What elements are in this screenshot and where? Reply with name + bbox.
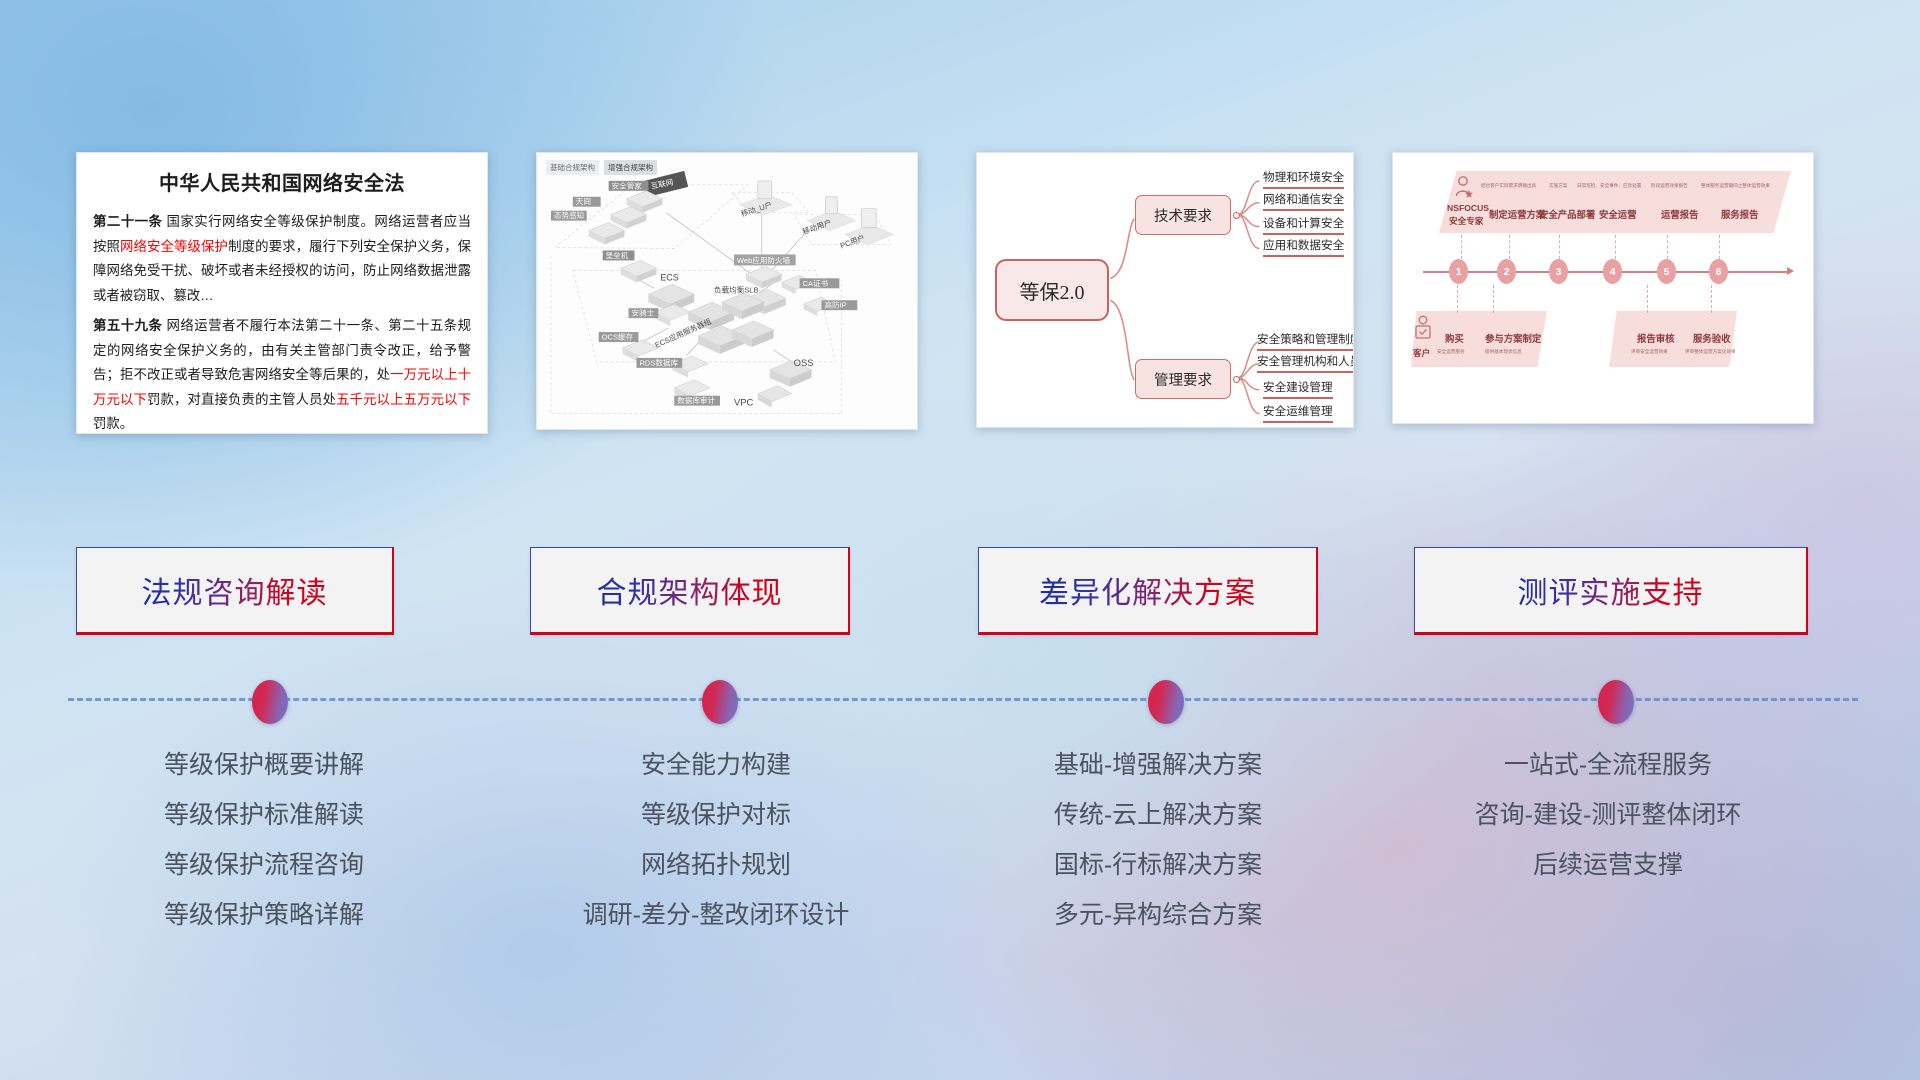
timeline-connector-1 [1461,235,1462,259]
timeline-top-sub-5: 整体服务运营期间之整体运营效果 [1701,183,1770,189]
label-rds-database: RDS数据库 [639,357,678,367]
timeline-bottom-sub-2: 提供基本现状信息 [1485,349,1522,355]
mindmap-leaf-policy: 安全策略和管理制度 [1257,331,1354,351]
mindmap: 等保2.0 技术要求 管理要求 物理和环境安全 网络和通信安全 设备和计算安全 … [977,153,1353,427]
label-database-audit: 数据库审计 [677,395,715,405]
label-bastion-host: 堡垒机 [606,250,629,260]
law-body: 中华人民共和国网络安全法 第二十一条 国家实行网络安全等级保护制度。网络运营者应… [77,153,487,434]
mindmap-leaf-org: 安全管理机构和人员 [1257,353,1354,373]
timeline-expert-label-1: NSFOCUS [1447,203,1489,213]
list-item: 安全能力构建 [506,740,926,790]
list-item: 基础-增强解决方案 [948,740,1368,790]
timeline-connector-b4 [1711,285,1712,313]
heading-row: 法规咨询解读 合规架构体现 差异化解决方案 测评实施支持 [0,547,1920,639]
label-slb: 负载均衡SLB [714,284,758,294]
timeline-step-number-1: 1 [1449,259,1468,284]
timeline-top-title-1: 制定运营方案 [1489,207,1545,221]
label-anti-ddos-ip: 高防IP [824,300,846,310]
law-paragraph-21: 第二十一条 国家实行网络安全等级保护制度。网络运营者应当按照网络安全等级保护制度… [93,210,471,308]
list-item: 网络拓扑规划 [506,840,926,890]
card-cybersecurity-law[interactable]: 中华人民共和国网络安全法 第二十一条 国家实行网络安全等级保护制度。网络运营者应… [76,152,488,434]
list-item: 咨询-建设-测评整体闭环 [1398,790,1818,840]
timeline-connector-b2 [1493,285,1494,313]
timeline-connector-b1 [1457,285,1458,313]
card-service-timeline[interactable]: NSFOCUS 安全专家 客户 结合客户实际需求明确出具 制定运营方案 实施方案… [1392,152,1814,424]
label-ocs-cache: OCS缓存 [602,332,634,342]
detail-column-1: 等级保护概要讲解 等级保护标准解读 等级保护流程咨询 等级保护策略详解 [54,740,474,940]
timeline-connector-4 [1615,235,1616,259]
timeline-bottom-title-1: 购买 [1445,331,1464,345]
timeline-connector-5 [1667,235,1668,259]
timeline-step-number-4: 4 [1603,259,1622,284]
timeline-top-sub-4: 阶段运营效果报告 [1651,183,1688,189]
mindmap-leaf-physical: 物理和环境安全 [1263,169,1344,189]
timeline-customer-label: 客户 [1413,347,1430,359]
mindmap-branch-management: 管理要求 [1135,359,1231,399]
customer-icon [1413,315,1433,343]
architecture-diagram: 基础合规架构 增强合规架构 [537,153,917,429]
heading-label-1: 法规咨询解读 [142,568,328,612]
timeline-top-title-4: 运营报告 [1661,207,1699,221]
list-item: 后续运营支撑 [1398,840,1818,890]
law-paragraph-59: 第五十九条 网络运营者不履行本法第二十一条、第二十五条规定的网络安全保护义务的，… [93,314,471,434]
label-waf: Web应用防火墙 [737,255,791,265]
list-item: 国标-行标解决方案 [948,840,1368,890]
label-anti-rider: 安骑士 [631,308,654,318]
law-p2-text-c: 罚款。 [93,416,133,431]
timeline-bottom-title-2: 参与方案制定 [1485,331,1541,345]
mindmap-leaf-device: 设备和计算安全 [1263,215,1344,235]
timeline-marker-1[interactable] [252,680,288,724]
service-timeline: NSFOCUS 安全专家 客户 结合客户实际需求明确出具 制定运营方案 实施方案… [1393,153,1813,423]
timeline-connector-6 [1719,235,1720,259]
detail-column-2: 安全能力构建 等级保护对标 网络拓扑规划 调研-差分-整改闭环设计 [506,740,926,940]
list-item: 传统-云上解决方案 [948,790,1368,840]
detail-list-row: 等级保护概要讲解 等级保护标准解读 等级保护流程咨询 等级保护策略详解 安全能力… [0,740,1920,950]
timeline-bottom-sub-3: 评审安全运营效果 [1631,349,1668,355]
timeline-connector-b3 [1647,285,1648,313]
timeline-step-number-6: 6 [1709,259,1728,284]
timeline-connector-3 [1559,235,1560,259]
mindmap-leaf-build: 安全建设管理 [1263,379,1333,399]
detail-column-4: 一站式-全流程服务 咨询-建设-测评整体闭环 后续运营支撑 [1398,740,1818,890]
list-item: 等级保护策略详解 [54,890,474,940]
timeline-connector-2 [1509,235,1510,259]
heading-label-4: 测评实施支持 [1518,568,1704,612]
mindmap-branch-technical: 技术要求 [1135,195,1231,235]
card-row: 中华人民共和国网络安全法 第二十一条 国家实行网络安全等级保护制度。网络运营者应… [0,152,1920,442]
list-item: 等级保护对标 [506,790,926,840]
heading-label-2: 合规架构体现 [597,568,783,612]
list-item: 一站式-全流程服务 [1398,740,1818,790]
label-security-butler: 安全管家 [612,180,643,190]
mindmap-collapse-dot-technical[interactable] [1233,212,1240,219]
mindmap-leaf-application: 应用和数据安全 [1263,237,1344,257]
list-item: 等级保护流程咨询 [54,840,474,890]
label-tianqiong: 天冏 [576,197,591,206]
law-article-21-label: 第二十一条 [93,214,162,229]
law-title: 中华人民共和国网络安全法 [93,167,471,196]
timeline-bottom-title-4: 服务验收 [1693,331,1731,345]
card-mindmap-dengbao[interactable]: 等保2.0 技术要求 管理要求 物理和环境安全 网络和通信安全 设备和计算安全 … [976,152,1354,428]
detail-column-3: 基础-增强解决方案 传统-云上解决方案 国标-行标解决方案 多元-异构综合方案 [948,740,1368,940]
list-item: 等级保护标准解读 [54,790,474,840]
timeline-top-sub-2: 实施方案 [1549,183,1567,189]
timeline-top-title-2: 安全产品部署 [1539,207,1595,221]
law-p1-highlight: 网络安全等级保护 [120,239,228,254]
mindmap-root: 等保2.0 [995,259,1109,321]
timeline-dashed-line [68,698,1858,701]
label-ca-certificate: CA证书 [803,278,829,288]
law-p2-highlight-2: 五千元以上五万元以下 [336,392,471,407]
list-item: 等级保护概要讲解 [54,740,474,790]
mindmap-leaf-network: 网络和通信安全 [1263,191,1344,211]
architecture-svg: 互联网 态势感知 天冏 [537,153,917,430]
heading-box-regulation-consulting[interactable]: 法规咨询解读 [76,547,394,635]
card-cloud-architecture[interactable]: 基础合规架构 增强合规架构 [536,152,918,430]
heading-box-compliance-architecture[interactable]: 合规架构体现 [530,547,850,635]
timeline-top-sub-3: 日常巡检、安全事件、应急处置 [1577,183,1641,189]
timeline-bottom-sub-4: 评审整体运营方案化效果 [1685,349,1736,355]
mindmap-collapse-dot-management[interactable] [1233,376,1240,383]
timeline-marker-2[interactable] [702,680,738,724]
security-expert-icon [1453,175,1475,199]
law-article-59-label: 第五十九条 [93,318,162,333]
timeline-expert-label-2: 安全专家 [1449,215,1483,227]
timeline-top-title-5: 服务报告 [1721,207,1759,221]
law-p2-text-b: 罚款，对直接负责的主管人员处 [147,392,336,407]
timeline-bottom-sub-1: 安全运营服务 [1437,349,1465,355]
timeline-arrow-icon [1787,267,1794,275]
label-vpc: VPC [734,398,754,409]
label-ecs: ECS [660,272,678,282]
heading-label-3: 差异化解决方案 [1039,568,1256,612]
timeline-marker-3[interactable] [1148,680,1184,724]
timeline-bottom-title-3: 报告审核 [1637,331,1675,345]
mindmap-leaf-ops: 安全运维管理 [1263,403,1333,423]
timeline-top-band [1439,171,1791,233]
heading-box-differentiated-solution[interactable]: 差异化解决方案 [978,547,1318,635]
timeline-strip [0,664,1920,744]
timeline-step-number-2: 2 [1497,259,1516,284]
timeline-top-title-3: 安全运营 [1599,207,1637,221]
list-item: 多元-异构综合方案 [948,890,1368,940]
timeline-step-number-5: 5 [1657,259,1676,284]
label-situational-awareness: 态势感知 [554,210,584,220]
heading-box-assessment-support[interactable]: 测评实施支持 [1414,547,1808,635]
timeline-step-number-3: 3 [1549,259,1568,284]
timeline-marker-4[interactable] [1598,680,1634,724]
list-item: 调研-差分-整改闭环设计 [506,890,926,940]
timeline-top-sub-1: 结合客户实际需求明确出具 [1481,183,1536,189]
label-oss: OSS [794,358,814,369]
